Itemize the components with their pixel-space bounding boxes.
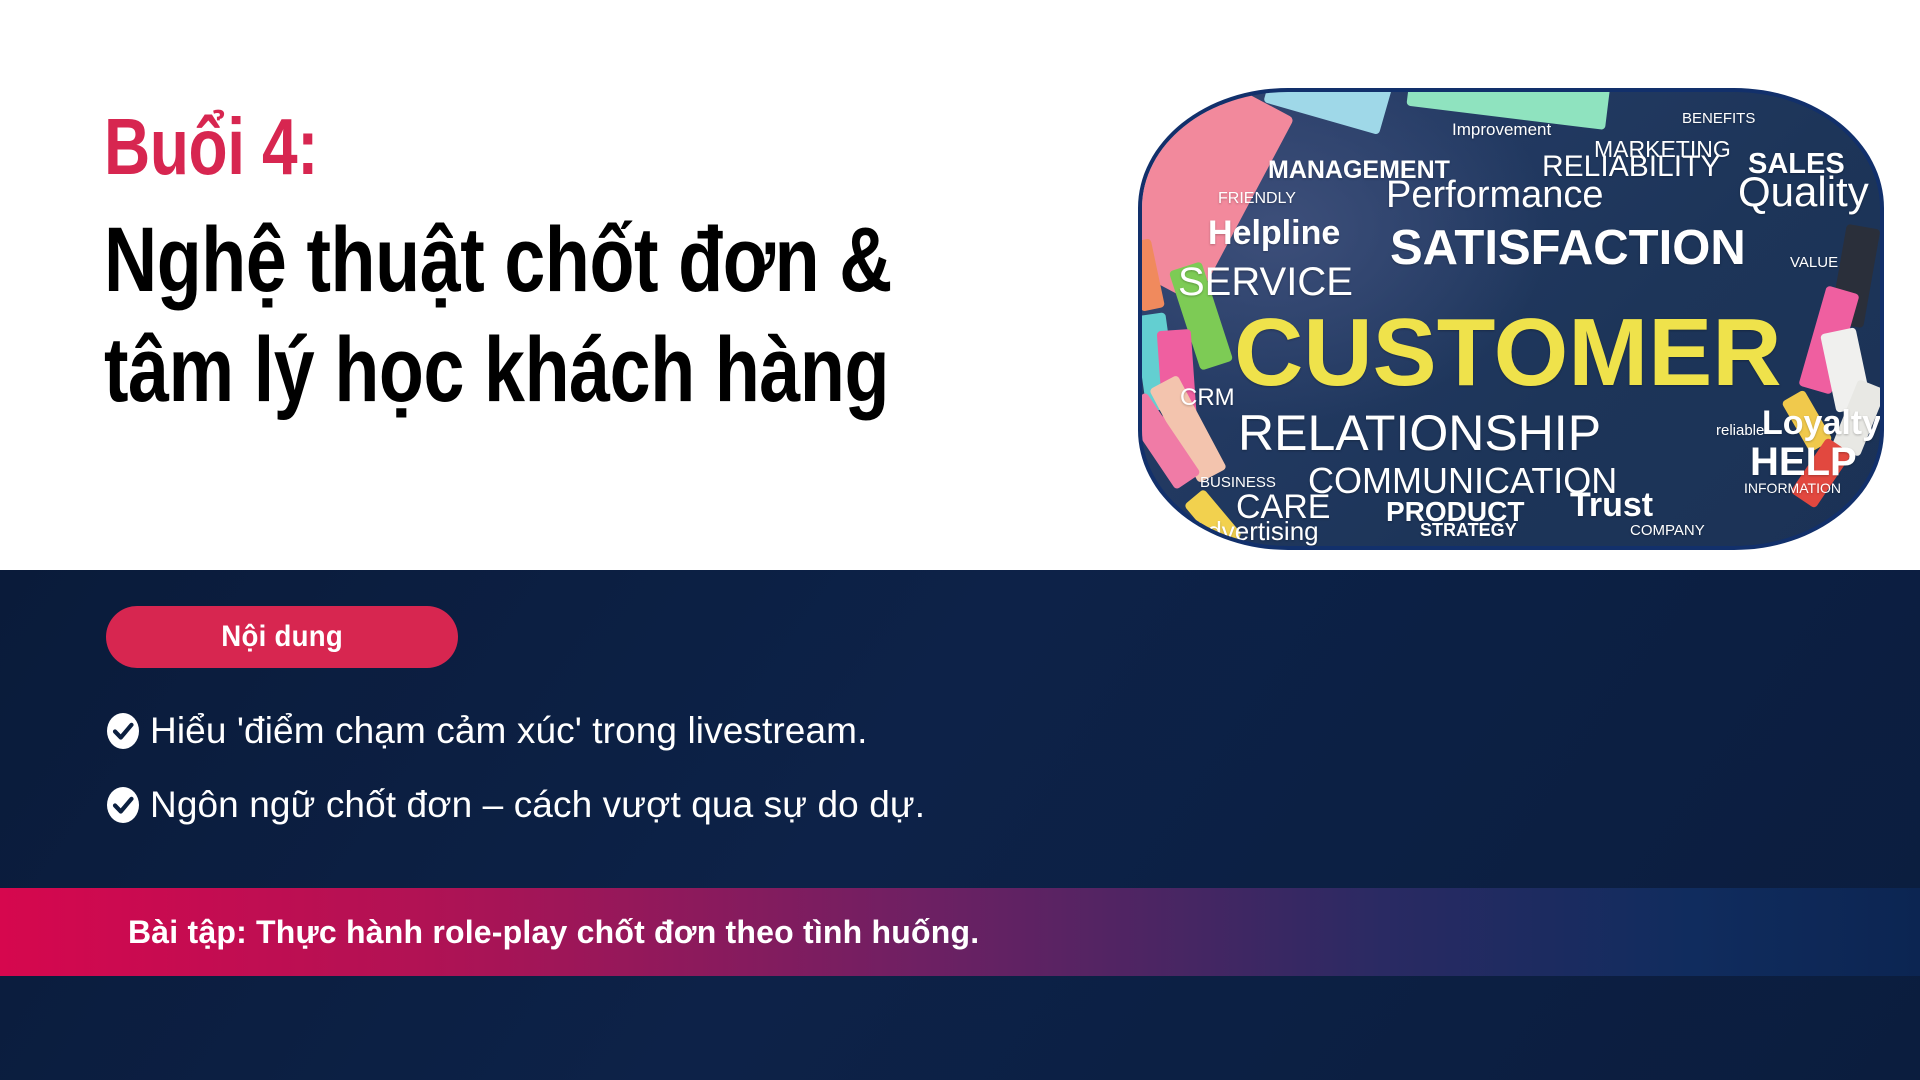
- wordcloud-word: RELATIONSHIP: [1238, 404, 1601, 462]
- wordcloud-word: Advertising: [1190, 516, 1319, 547]
- wordcloud-word: Improvement: [1452, 120, 1551, 140]
- check-circle-icon: [106, 786, 140, 824]
- exercise-bar: Bài tập: Thực hành role-play chốt đơn th…: [0, 888, 1920, 976]
- hero-section: Buổi 4: Nghệ thuật chốt đơn & tâm lý học…: [0, 0, 1920, 570]
- wordcloud-word: VALUE: [1790, 254, 1838, 271]
- wordcloud-word: HELP: [1750, 440, 1857, 485]
- section-badge-label: Nội dung: [221, 620, 343, 654]
- bullet-text: Hiểu 'điểm chạm cảm xúc' trong livestrea…: [150, 710, 867, 752]
- content-section: Nội dung Hiểu 'điểm chạm cảm xúc' trong …: [0, 570, 1920, 1080]
- wordcloud-word: Trust: [1570, 486, 1653, 525]
- wordcloud-word: reliable: [1716, 422, 1764, 439]
- wordcloud-word: STRATEGY: [1420, 520, 1517, 541]
- wordcloud-word: FRIENDLY: [1218, 190, 1296, 208]
- session-label: Buổi 4:: [104, 108, 912, 186]
- bullet-item: Hiểu 'điểm chạm cảm xúc' trong livestrea…: [106, 710, 1406, 752]
- page-title-line-2: tâm lý học khách hàng: [104, 322, 912, 420]
- section-badge: Nội dung: [106, 606, 458, 668]
- wordcloud-word: INFORMATION: [1744, 480, 1841, 496]
- bullet-list: Hiểu 'điểm chạm cảm xúc' trong livestrea…: [106, 710, 1406, 858]
- wordcloud-word: COMPANY: [1630, 522, 1705, 539]
- wordcloud-word: CUSTOMER: [1234, 298, 1782, 408]
- bullet-text: Ngôn ngữ chốt đơn – cách vượt qua sự do …: [150, 784, 925, 826]
- wordcloud-word: Quality: [1738, 168, 1869, 216]
- wordcloud-word: CRM: [1180, 384, 1235, 412]
- wordcloud-word: SATISFACTION: [1390, 220, 1746, 276]
- wordcloud-image: ImprovementBENEFITSMARKETINGSALESMANAGEM…: [1138, 88, 1884, 550]
- page-title-line-1: Nghệ thuật chốt đơn &: [104, 212, 912, 310]
- wordcloud-word: Loyalty: [1762, 404, 1881, 443]
- wordcloud-word: Performance: [1386, 174, 1604, 217]
- bullet-item: Ngôn ngữ chốt đơn – cách vượt qua sự do …: [106, 784, 1406, 826]
- wordcloud-word: BENEFITS: [1682, 110, 1755, 127]
- check-circle-icon: [106, 712, 140, 750]
- wordcloud-canvas: ImprovementBENEFITSMARKETINGSALESMANAGEM…: [1142, 92, 1880, 546]
- exercise-text: Bài tập: Thực hành role-play chốt đơn th…: [128, 914, 979, 951]
- wordcloud-word: Helpline: [1208, 214, 1340, 253]
- title-block: Buổi 4: Nghệ thuật chốt đơn & tâm lý học…: [104, 108, 1114, 419]
